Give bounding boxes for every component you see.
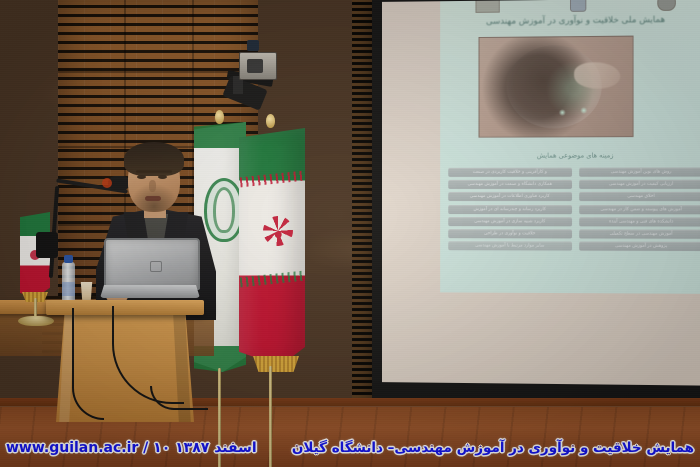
slide-topic-item: ارزیابی کیفیت در آموزش مهندسی: [579, 180, 700, 189]
slide-subtitle: زمینه های موضوعی همایش: [440, 151, 700, 160]
laptop: [100, 238, 200, 308]
dark-slat-strip: [352, 0, 374, 400]
projection-screen: همایش ملی خلاقیت و نوآوری در آموزش مهندس…: [372, 0, 700, 402]
hand-shape: [574, 63, 620, 89]
slide-topic-item: کاربرد رسانه و چندرسانه ای در آموزش: [448, 205, 571, 214]
slide-topic-item: روش های نوین آموزش مهندسی: [579, 167, 700, 176]
spark-icon: [559, 109, 566, 116]
presenter-eye-left: [137, 175, 146, 179]
slide-topic-columns: روش های نوین آموزش مهندسی ارزیابی کیفیت …: [448, 167, 700, 251]
spark-icon-2: [580, 106, 587, 113]
slide-topic-item: و کارآفرینی و خلاقیت کاربردی در صنعت: [448, 168, 571, 177]
slide-logo-row: [440, 0, 700, 13]
iran-flag-cloth: [239, 128, 305, 366]
screen-surface: همایش ملی خلاقیت و نوآوری در آموزش مهندس…: [382, 0, 700, 386]
flag-finial-icon: [215, 110, 224, 124]
flag-pole: [269, 366, 272, 467]
slide-logo-center-icon: [570, 0, 586, 12]
presenter-mouth: [145, 196, 161, 201]
slide-topic-column-left: و کارآفرینی و خلاقیت کاربردی در صنعت همک…: [448, 168, 571, 251]
laptop-lid: [104, 238, 200, 290]
slide-topic-item: همکاری دانشگاه و صنعت در آموزش مهندسی: [448, 180, 571, 189]
slide-topic-item: کاربرد فناوری اطلاعات در آموزش مهندسی: [448, 192, 571, 201]
laptop-keyboard-base: [100, 285, 200, 298]
slide-topic-item: سایر موارد مرتبط با آموزش مهندسی: [448, 241, 571, 250]
flag-finial-icon: [266, 114, 275, 128]
presenter-brow: [136, 170, 172, 173]
iran-national-flag: [233, 128, 311, 393]
slide-topic-item: آموزش های پیوسته و ضمن کار در مهندسی: [579, 205, 700, 214]
presenter-eye-right: [158, 175, 167, 179]
slide-topic-item: اخلاق مهندسی: [579, 192, 700, 201]
slide-topic-column-right: روش های نوین آموزش مهندسی ارزیابی کیفیت …: [579, 167, 700, 251]
photograph-canvas: همایش ملی خلاقیت و نوآوری در آموزش مهندس…: [0, 0, 700, 467]
flag-pole: [218, 368, 221, 467]
presenter-nose: [149, 180, 156, 192]
power-cable: [72, 308, 104, 420]
mic-base-box: [36, 232, 58, 258]
slide-logo-left-icon: [475, 0, 499, 13]
slide-logo-right-icon: [658, 0, 677, 11]
slide-topic-item: دانشکده های فنی و مهندسی آینده: [579, 217, 700, 226]
presentation-slide: همایش ملی خلاقیت و نوآوری در آموزش مهندس…: [440, 0, 700, 294]
slide-topic-item: کاربرد شبیه سازی در آموزش مهندسی: [448, 217, 571, 226]
slide-illustration: [479, 36, 634, 138]
slide-topic-item: پژوهش در آموزش مهندسی: [579, 242, 700, 252]
desk-flag-base: [18, 316, 54, 326]
slide-topic-item: خلاقیت و نوآوری در طراحی: [448, 229, 571, 238]
wall-mounted-camera-icon: [225, 38, 281, 108]
hp-logo-icon: [150, 261, 162, 272]
slide-topic-item: آموزش مهندسی در سطح تکمیلی: [579, 229, 700, 238]
slide-title: همایش ملی خلاقیت و نوآوری در آموزش مهندس…: [440, 14, 700, 27]
flag-gold-fringe: [253, 356, 299, 372]
